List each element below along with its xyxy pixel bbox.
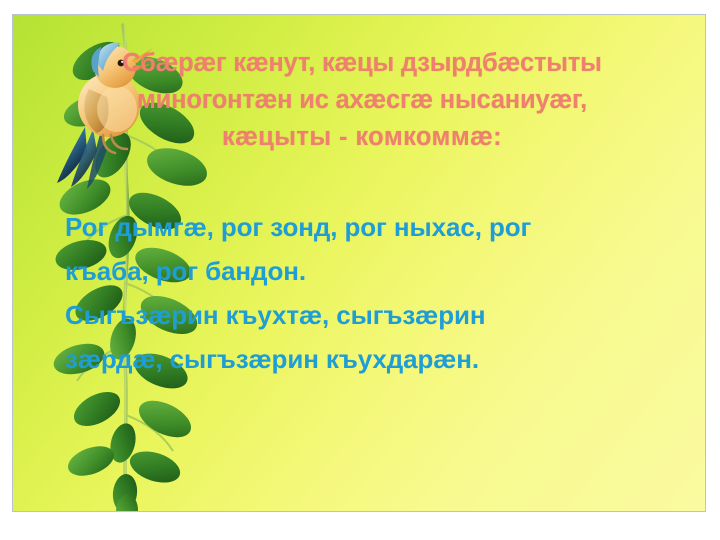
body-line-3: Сыгъзæрин къухтæ, сыгъзæрин xyxy=(65,293,705,337)
body-line-4: зæрдæ, сыгъзæрин къухдарæн. xyxy=(65,337,705,381)
title-line-3: кæцыты - комкоммæ: xyxy=(37,119,687,156)
slide-body: Рог дымгæ, рог зонд, рог ныхас, рог къаб… xyxy=(65,205,705,381)
slide-title: Сбæрæг кæнут, кæцы дзырдбæстыты миногонт… xyxy=(37,45,687,156)
title-line-1: Сбæрæг кæнут, кæцы дзырдбæстыты xyxy=(37,45,687,82)
body-line-2: къаба, рог бандон. xyxy=(65,249,705,293)
body-line-1: Рог дымгæ, рог зонд, рог ныхас, рог xyxy=(65,205,705,249)
title-line-2: миногонтæн ис ахæсгæ нысаниуæг, xyxy=(37,82,687,119)
slide-canvas: Сбæрæг кæнут, кæцы дзырдбæстыты миногонт… xyxy=(12,14,706,512)
